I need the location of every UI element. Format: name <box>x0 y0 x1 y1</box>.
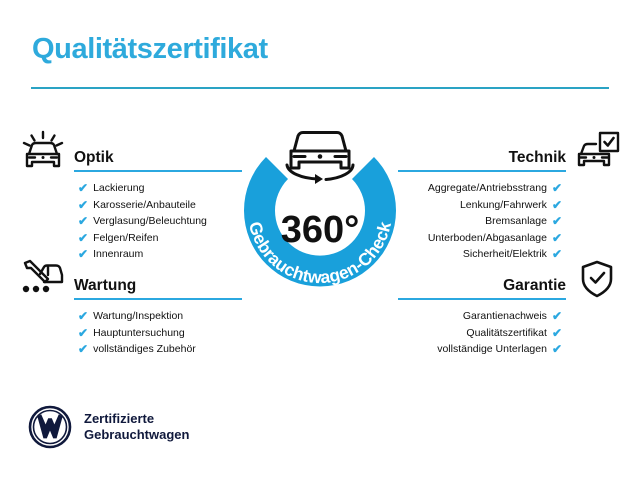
check-icon: ✔ <box>552 199 562 211</box>
list-item: ✔vollständiges Zubehör <box>78 341 250 358</box>
section-divider-technik <box>398 170 566 172</box>
badge-center-text: 360° <box>281 209 360 251</box>
check-icon: ✔ <box>78 327 88 339</box>
check-icon: ✔ <box>78 215 88 227</box>
checklist-garantie: Garantienachweis✔ Qualitätszertifikat✔ v… <box>390 308 620 358</box>
list-item-label: Wartung/Inspektion <box>93 308 183 325</box>
list-item-label: Hauptuntersuchung <box>93 325 185 342</box>
title-divider <box>31 87 609 89</box>
check-icon: ✔ <box>552 343 562 355</box>
checklist-optik: ✔Lackierung ✔Karosserie/Anbauteile ✔Verg… <box>20 180 250 263</box>
car-checkbox-icon <box>574 130 620 172</box>
footer-text: Zertifizierte Gebrauchtwagen <box>84 411 189 443</box>
list-item: Qualitätszertifikat✔ <box>390 325 562 342</box>
section-technik: Technik Aggregate/Antriebsstrang✔ Lenkun… <box>390 128 620 263</box>
section-header-wartung: Wartung <box>20 256 250 300</box>
page-title: Qualitätszertifikat <box>32 33 268 66</box>
section-header-technik: Technik <box>390 128 620 172</box>
badge-svg: Gebrauchtwagen-Check 360° <box>222 113 418 309</box>
section-divider-garantie <box>398 298 566 300</box>
check-icon: ✔ <box>78 232 88 244</box>
list-item-label: Verglasung/Beleuchtung <box>93 213 207 230</box>
check-icon: ✔ <box>552 182 562 194</box>
volkswagen-logo <box>28 405 72 449</box>
section-garantie: Garantie Garantienachweis✔ Qualitätszert… <box>390 256 620 358</box>
section-title-garantie: Garantie <box>398 277 566 298</box>
list-item-label: Bremsanlage <box>485 213 547 230</box>
car-wrench-icon <box>20 258 66 300</box>
check-icon: ✔ <box>552 327 562 339</box>
section-divider-wartung <box>74 298 242 300</box>
section-divider-optik <box>74 170 242 172</box>
list-item-label: Unterboden/Abgasanlage <box>428 230 547 247</box>
check-icon: ✔ <box>552 232 562 244</box>
section-title-optik: Optik <box>74 149 242 170</box>
list-item-label: Felgen/Reifen <box>93 230 158 247</box>
footer-line-1: Zertifizierte <box>84 411 189 427</box>
section-header-optik: Optik <box>20 128 250 172</box>
section-title-technik: Technik <box>398 149 566 170</box>
list-item-label: Lackierung <box>93 180 144 197</box>
car-shine-icon <box>20 130 66 172</box>
list-item: ✔Wartung/Inspektion <box>78 308 250 325</box>
list-item-label: vollständiges Zubehör <box>93 341 196 358</box>
check-icon: ✔ <box>78 182 88 194</box>
section-header-garantie: Garantie <box>390 256 620 300</box>
checklist-technik: Aggregate/Antriebsstrang✔ Lenkung/Fahrwe… <box>390 180 620 263</box>
rotation-arrow-icon <box>315 174 323 184</box>
check-icon: ✔ <box>552 215 562 227</box>
section-wartung: Wartung ✔Wartung/Inspektion ✔Hauptunters… <box>20 256 250 358</box>
checklist-wartung: ✔Wartung/Inspektion ✔Hauptuntersuchung ✔… <box>20 308 250 358</box>
shield-check-icon <box>574 258 620 300</box>
list-item-label: Karosserie/Anbauteile <box>93 197 196 214</box>
check-icon: ✔ <box>78 310 88 322</box>
list-item-label: Aggregate/Antriebsstrang <box>428 180 547 197</box>
list-item-label: vollständige Unterlagen <box>437 341 547 358</box>
footer-line-2: Gebrauchtwagen <box>84 427 189 443</box>
list-item-label: Lenkung/Fahrwerk <box>460 197 547 214</box>
list-item-label: Qualitätszertifikat <box>466 325 547 342</box>
list-item: ✔Hauptuntersuchung <box>78 325 250 342</box>
list-item-label: Garantienachweis <box>463 308 547 325</box>
car-rotation-icon <box>287 133 353 185</box>
certificate-page: Qualitätszertifikat Optik <box>0 0 640 480</box>
section-optik: Optik ✔Lackierung ✔Karosserie/Anbauteile… <box>20 128 250 263</box>
check-icon: ✔ <box>78 343 88 355</box>
check-icon: ✔ <box>552 310 562 322</box>
section-title-wartung: Wartung <box>74 277 242 298</box>
list-item: vollständige Unterlagen✔ <box>390 341 562 358</box>
list-item: Garantienachweis✔ <box>390 308 562 325</box>
vw-monogram <box>37 414 62 438</box>
check-icon: ✔ <box>78 199 88 211</box>
badge-360-gebrauchtwagen-check: Gebrauchtwagen-Check 360° <box>222 113 418 309</box>
footer-brand: Zertifizierte Gebrauchtwagen <box>28 405 189 449</box>
